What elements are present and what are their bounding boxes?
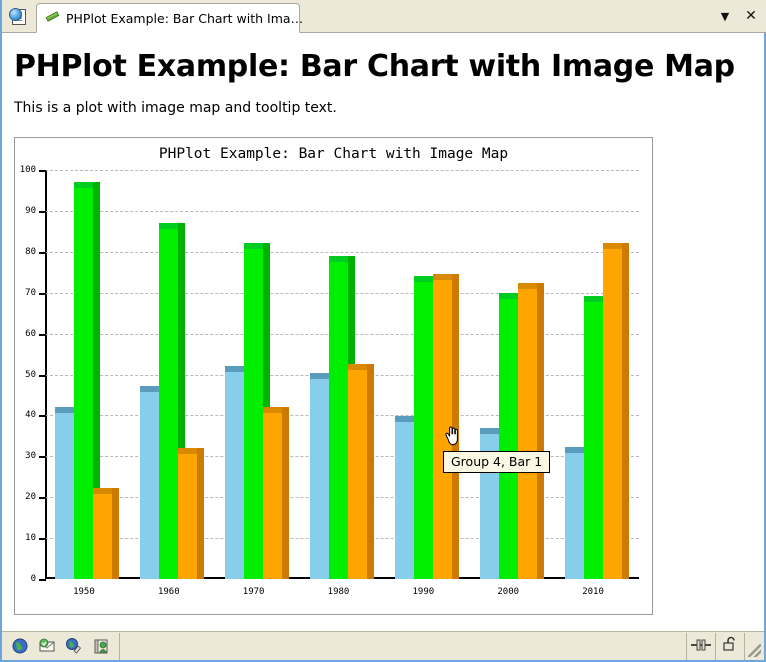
grid-line <box>45 211 639 212</box>
pencil-icon <box>45 11 60 26</box>
y-axis-tick <box>39 579 46 581</box>
y-axis-tick <box>39 252 46 254</box>
y-axis-tick <box>39 375 46 377</box>
grid-line <box>45 170 639 171</box>
mail-icon[interactable] <box>38 637 56 655</box>
bar-side-top <box>622 243 629 249</box>
bar-face <box>584 302 603 579</box>
status-message <box>120 633 687 660</box>
bar-side-top <box>197 448 204 454</box>
bar-face <box>518 289 537 579</box>
y-axis-tick <box>39 334 46 336</box>
bar[interactable] <box>518 289 537 579</box>
bar-side-top <box>452 274 459 280</box>
y-axis-tick-label: 40 <box>25 410 36 420</box>
x-axis-tick-label: 1960 <box>158 587 180 597</box>
bar[interactable] <box>395 422 414 579</box>
x-axis-tick-label: 1980 <box>328 587 350 597</box>
bar[interactable] <box>329 262 348 579</box>
document-globe-icon <box>9 8 26 25</box>
bar-face <box>244 249 263 579</box>
bar-face <box>140 392 159 579</box>
bar-side-top <box>93 182 100 188</box>
bar-side-top <box>282 407 289 413</box>
tab-list-dropdown-icon[interactable]: ▼ <box>712 0 738 32</box>
bar[interactable] <box>178 454 197 579</box>
plot-area: 0102030405060708090100 19501960197019801… <box>45 170 639 579</box>
tab-bar: PHPlot Example: Bar Chart with Ima… ▼ ✕ <box>2 0 766 33</box>
bar-face <box>414 282 433 579</box>
plot-image[interactable]: PHPlot Example: Bar Chart with Image Map… <box>14 137 653 615</box>
y-axis-tick-label: 10 <box>25 533 36 543</box>
bar[interactable] <box>55 413 74 579</box>
x-axis-tick-label: 1990 <box>413 587 435 597</box>
close-tab-icon[interactable]: ✕ <box>738 0 764 32</box>
status-bar <box>2 631 764 660</box>
bar-face <box>348 370 367 579</box>
bar-face <box>395 422 414 579</box>
bar[interactable] <box>159 229 178 580</box>
y-axis-tick <box>39 497 46 499</box>
app-icon-button[interactable] <box>2 0 32 32</box>
browser-window: PHPlot Example: Bar Chart with Ima… ▼ ✕ … <box>0 0 766 662</box>
y-axis-tick <box>39 293 46 295</box>
bar-face <box>159 229 178 580</box>
bar-side-top <box>112 488 119 494</box>
y-axis-tick <box>39 170 46 172</box>
y-axis-tick <box>39 456 46 458</box>
bar[interactable] <box>140 392 159 579</box>
bar[interactable] <box>310 379 329 579</box>
chart-title: PHPlot Example: Bar Chart with Image Map <box>15 146 652 162</box>
bar-side <box>282 413 289 579</box>
x-axis-tick-label: 2000 <box>497 587 519 597</box>
bar[interactable] <box>93 494 112 579</box>
connection-status-panel[interactable] <box>687 633 716 660</box>
y-axis-tick-label: 20 <box>25 492 36 502</box>
tab-phplot-example[interactable]: PHPlot Example: Bar Chart with Ima… <box>36 3 300 33</box>
bar-side-top <box>537 283 544 289</box>
bar-side-top <box>263 243 270 249</box>
x-axis-tick-label: 1970 <box>243 587 265 597</box>
bar-face <box>74 188 93 579</box>
tab-label: PHPlot Example: Bar Chart with Ima… <box>66 11 303 26</box>
x-axis-tick-label: 1950 <box>73 587 95 597</box>
pointer-hand-cursor <box>443 426 461 446</box>
bar-side-top <box>367 364 374 370</box>
y-axis-tick-label: 30 <box>25 451 36 461</box>
x-axis-tick-label: 2010 <box>582 587 604 597</box>
bar[interactable] <box>603 249 622 579</box>
bar[interactable] <box>414 282 433 579</box>
bar-side-top <box>178 223 185 229</box>
y-axis-tick <box>39 415 46 417</box>
bar-face <box>55 413 74 579</box>
page-content: PHPlot Example: Bar Chart with Image Map… <box>2 33 764 629</box>
y-axis-tick-label: 0 <box>31 574 36 584</box>
bar-side <box>622 249 629 579</box>
bar-face <box>329 262 348 579</box>
bar-side-top <box>348 256 355 262</box>
status-icon-group <box>2 633 120 660</box>
bar-face <box>565 453 584 579</box>
bar[interactable] <box>263 413 282 579</box>
y-axis-tick <box>39 538 46 540</box>
bar-face <box>310 379 329 579</box>
bar[interactable] <box>244 249 263 579</box>
y-axis-tick-label: 70 <box>25 288 36 298</box>
bar[interactable] <box>565 453 584 579</box>
y-axis-tick-label: 100 <box>20 165 36 175</box>
y-axis-tick-label: 90 <box>25 206 36 216</box>
page-description: This is a plot with image map and toolti… <box>14 100 764 116</box>
grid-line <box>45 252 639 253</box>
browser-globe-icon[interactable] <box>11 637 29 655</box>
bar[interactable] <box>584 302 603 579</box>
bar-side <box>112 494 119 579</box>
tooltip: Group 4, Bar 1 <box>443 451 550 473</box>
bar[interactable] <box>348 370 367 579</box>
compose-icon[interactable] <box>65 637 83 655</box>
bar-side <box>537 289 544 579</box>
connection-icon <box>690 637 712 656</box>
bar[interactable] <box>225 372 244 579</box>
bar[interactable] <box>499 299 518 579</box>
y-axis-tick-label: 60 <box>25 329 36 339</box>
y-axis-tick <box>39 211 46 213</box>
resize-grip-icon[interactable] <box>745 633 764 660</box>
bar-face <box>225 372 244 579</box>
bar-face <box>178 454 197 579</box>
bar-side <box>367 370 374 579</box>
bar[interactable] <box>74 188 93 579</box>
security-status-panel[interactable] <box>716 633 745 660</box>
bar-face <box>499 299 518 579</box>
addressbook-icon[interactable] <box>92 637 110 655</box>
y-axis-tick-label: 50 <box>25 370 36 380</box>
bar-face <box>93 494 112 579</box>
unlocked-padlock-icon <box>722 636 738 656</box>
bar-face <box>603 249 622 579</box>
bar-side <box>197 454 204 579</box>
y-axis-tick-label: 80 <box>25 247 36 257</box>
bar-face <box>263 413 282 579</box>
page-title: PHPlot Example: Bar Chart with Image Map <box>14 49 764 84</box>
